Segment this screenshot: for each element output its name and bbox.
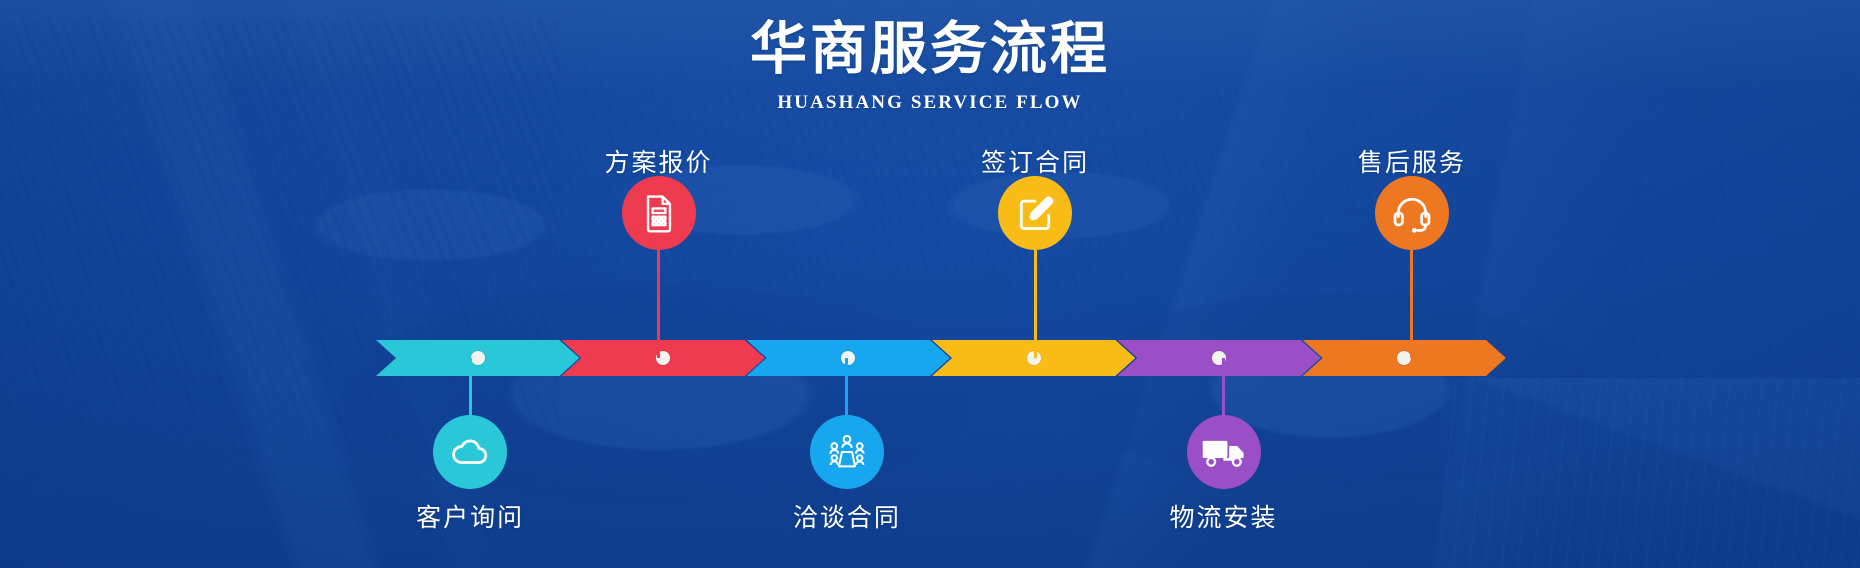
flow-chevron-segment-6[interactable] xyxy=(1303,340,1506,376)
flow-icon-circle-4[interactable] xyxy=(998,176,1072,250)
flow-icon-circle-5[interactable] xyxy=(1187,415,1261,489)
flow-step-label-6: 售后服务 xyxy=(1302,143,1522,179)
flow-icon-circle-2[interactable] xyxy=(622,176,696,250)
flow-chevron-bar xyxy=(376,340,1506,376)
flow-chevron-segment-5[interactable] xyxy=(1117,340,1320,376)
cloud-icon xyxy=(449,431,491,473)
meeting-table-icon xyxy=(825,432,869,472)
flow-chevron-segment-2[interactable] xyxy=(561,340,764,376)
flow-icon-circle-6[interactable] xyxy=(1375,176,1449,250)
service-flow-banner: 华商服务流程 HUASHANG SERVICE FLOW 客户询问方案报价洽谈合… xyxy=(0,0,1860,568)
flow-icon-circle-1[interactable] xyxy=(433,415,507,489)
flow-step-label-3: 洽谈合同 xyxy=(737,498,957,534)
flow-step-label-4: 签订合同 xyxy=(925,143,1145,179)
flow-icon-circle-3[interactable] xyxy=(810,415,884,489)
flow-step-label-2: 方案报价 xyxy=(549,143,769,179)
banner-header: 华商服务流程 HUASHANG SERVICE FLOW xyxy=(0,16,1860,114)
flow-chevron-segment-1[interactable] xyxy=(376,340,579,376)
flow-step-label-1: 客户询问 xyxy=(360,498,580,534)
page-title: 华商服务流程 xyxy=(0,16,1860,83)
calculator-receipt-icon xyxy=(639,192,679,234)
page-subtitle: HUASHANG SERVICE FLOW xyxy=(0,92,1860,114)
pen-signing-icon xyxy=(1014,192,1056,234)
delivery-truck-icon xyxy=(1201,434,1247,470)
headset-support-icon xyxy=(1390,191,1434,235)
flow-step-label-5: 物流安装 xyxy=(1114,498,1334,534)
flow-node-dot-6 xyxy=(1397,351,1411,365)
flow-node-dot-1 xyxy=(471,351,485,365)
